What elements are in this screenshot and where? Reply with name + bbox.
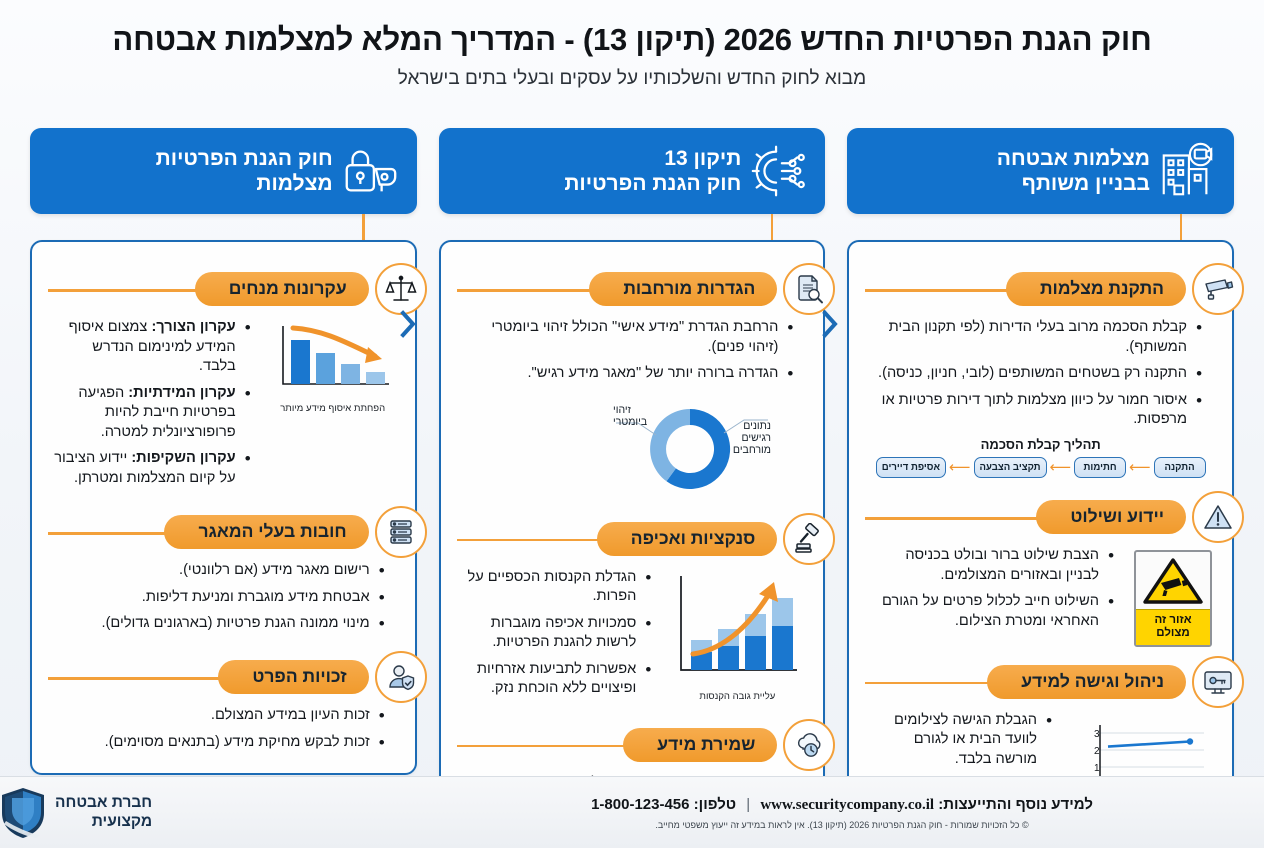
list-item: סמכויות אכיפה מוגברות לרשות להגנת הפרטיו… [463,614,652,653]
section-title: עקרונות מנחים [195,272,369,306]
list-item: עקרון הצורך: צמצום איסוף המידע למינימום … [54,318,251,377]
svg-text:זיהוי: זיהוי [613,404,632,416]
list-item: הגדלת הקנסות הכספיים על הפרות. [463,568,652,607]
bar-chart-decreasing [271,322,395,396]
section-body: עקרון הצורך: צמצום איסוף המידע למינימום … [48,318,399,495]
svg-text:1: 1 [1094,763,1100,774]
bullet-list: הרחבת הגדרת "מידע אישי" הכולל זיהוי ביומ… [457,318,808,384]
flow-step: חתימות [1074,457,1126,478]
section-header: שמירת מידע [457,724,808,766]
list-item: זכות העיון במידע המצולם. [54,706,385,726]
footer-website[interactable]: www.securitycompany.co.il [760,797,934,813]
svg-text:2: 2 [1094,746,1100,757]
section-title: סנקציות ואכיפה [597,522,778,556]
list-item: איסור חמור על כיוון מצלמות לתוך דירות פר… [871,391,1202,430]
footer-contact: למידע נוסף והתייעצות: www.securitycompan… [420,796,1264,814]
section-title: התקנת מצלמות [1006,272,1186,306]
section-camera-installation: התקנת מצלמות קבלת הסכמה מרוב בעלי הדירות… [865,268,1216,478]
list-item: הגבלת הגישה לצילומים לוועד הבית או לגורם… [871,711,1052,770]
section-title: חובות בעלי המאגר [164,515,368,549]
list-item: עקרון המידתיות: הפגיעה בפרטיות חייבת להי… [54,384,251,443]
phone-label: טלפון: [694,796,736,813]
sign-plate: אזור זה מצולם [1134,550,1212,647]
svg-text:3: 3 [1094,729,1100,740]
columns-container: חוק הגנת הפרטיות מצלמות עקרונות מנחים [30,128,1234,776]
list-item: עקרון השקיפות: יידוע הציבור על קיום המצל… [54,449,251,488]
section-title: הגדרות מורחבות [589,272,777,306]
bullet-list-wrapper: הגדלת הקנסות הכספיים על הפרות. סמכויות א… [457,568,666,706]
gavel-icon [783,513,835,565]
footer-company-name: חברת אבטחה מקצועית [55,794,152,831]
flow-arrow-icon: ⟵ [1128,460,1152,475]
section-title: זכויות הפרט [218,660,368,694]
connector-chevron-left [398,309,418,339]
bullet-list: רישום מאגר מידע (אם רלוונטי). אבטחת מידע… [48,561,399,634]
footer-brand: חברת אבטחה מקצועית [0,787,250,839]
list-item: זכות לבקש מחיקת מידע (בתנאים מסוימים). [54,733,385,753]
section-header: זכויות הפרט [48,656,399,698]
bullet-list-wrapper: עקרון הצורך: צמצום איסוף המידע למינימום … [48,318,265,495]
list-item: אבטחת מידע מוגברת ומניעת דליפות. [54,588,385,608]
section-body: הגדלת הקנסות הכספיים על הפרות. סמכויות א… [457,568,808,706]
server-icon [375,506,427,558]
list-item: אפשרות לתביעות אזרחיות ופיצויים ללא הוכח… [463,660,652,699]
section-notice-signage: יידוע ושילוט הצבת שילוט ברו [865,496,1216,647]
list-item: הרחבת הגדרת "מידע אישי" הכולל זיהוי ביומ… [463,318,794,357]
flow-step: התקנה [1154,457,1206,478]
consent-process-flow: אסיפת דיירים ⟵ תקציב הצבעה ⟵ חתימות ⟵ הת… [865,457,1216,478]
bullet-list: הגדלת הקנסות הכספיים על הפרות. סמכויות א… [457,568,666,699]
bullet-lead: עקרון הצורך: [151,319,235,335]
header-line-1: מצלמות אבטחה [997,147,1150,170]
section-header: ניהול וגישה למידע [865,661,1216,703]
section-header: יידוע ושילוט [865,496,1216,538]
column-header-amendment-13: תיקון 13 חוק הגנת הפרטיות [439,128,826,214]
chart-caption: הפחתת איסוף מידע מיותר [271,403,395,414]
list-item: הצבת שילוט ברור ובולט בכניסה לבניין ובאז… [871,546,1114,585]
header-line-1: חוק הגנת הפרטיות [156,147,333,170]
chart-fines-growth: עליית גובה הקנסות [669,568,807,702]
card-amendment-13: הגדרות מורחבות [439,240,826,843]
flow-step: תקציב הצבעה [974,457,1047,478]
section-header: התקנת מצלמות [865,268,1216,310]
cctv-warning-sign: אזור זה מצולם [1132,546,1216,647]
company-line-1: חברת אבטחה [55,794,152,811]
header-line-2: חוק הגנת הפרטיות [564,172,741,195]
list-item: רישום מאגר מידע (אם רלוונטי). [54,561,385,581]
column-header-text: מצלמות אבטחה בבניין משותף [861,146,1156,196]
svg-text:רגישים: רגישים [742,432,772,444]
footer-center: למידע נוסף והתייעצות: www.securitycompan… [250,796,1264,830]
cctv-camera-icon [1192,263,1244,315]
flow-arrow-icon: ⟵ [948,460,972,475]
column-header-shared-building: מצלמות אבטחה בבניין משותף [847,128,1234,214]
card-privacy-law: עקרונות מנחים עקרון הצורך: [30,240,417,775]
section-sanctions-enforcement: סנקציות ואכיפה [457,518,808,706]
section-expanded-definitions: הגדרות מורחבות [457,268,808,506]
list-item: מינוי ממונה הגנת פרטיות (בארגונים גדולים… [54,614,385,634]
section-header: הגדרות מורחבות [457,268,808,310]
donut-chart: נתונים רגישים מורחבים זיהוי ביומטרי [572,393,807,501]
column-header-text: תיקון 13 חוק הגנת הפרטיות [453,146,748,196]
bullet-lead: עקרון השקיפות: [131,450,235,466]
section-title: יידוע ושילוט [1036,500,1186,534]
header-line-2: מצלמות [256,172,332,195]
bullet-list-wrapper: הרחבת הגדרת "מידע אישי" הכולל זיהוי ביומ… [457,318,808,391]
building-camera-icon [1156,140,1218,202]
stacked-bar-chart-increasing [671,572,803,684]
column-shared-building: מצלמות אבטחה בבניין משותף התקנת מצלמות [847,128,1234,776]
title-area: חוק הגנת הפרטיות החדש 2026 (תיקון 13) - … [0,0,1264,90]
column-privacy-law: חוק הגנת הפרטיות מצלמות עקרונות מנחים [30,128,417,776]
section-title: ניהול וגישה למידע [987,665,1186,699]
page-subtitle: מבוא לחוק החדש והשלכותיו על עסקים ובעלי … [40,68,1224,90]
footer-phone[interactable]: 1-800-123-456 [591,796,689,813]
column-amendment-13: תיקון 13 חוק הגנת הפרטיות הגדרות מורחבות [439,128,826,776]
list-item: קבלת הסכמה מרוב בעלי הדירות (לפי תקנון ה… [871,318,1202,357]
section-body: הרחבת הגדרת "מידע אישי" הכולל זיהוי ביומ… [457,318,808,391]
cloud-clock-icon [783,719,835,771]
chart-caption: עליית גובה הקנסות [671,691,803,702]
chart-data-minimization: הפחתת איסוף מידע מיותר [269,318,399,414]
svg-text:נתונים: נתונים [744,420,772,432]
section-individual-rights: זכויות הפרט זכות העיון במידע המצולם. [48,656,399,752]
svg-text:ביומטרי: ביומטרי [613,416,647,428]
section-header: עקרונות מנחים [48,268,399,310]
flow-title: תהליך קבלת הסכמה [865,437,1216,452]
flow-step: אסיפת דיירים [876,457,946,478]
list-item: השילוט חייב לכלול פרטים על הגורם האחראי … [871,592,1114,631]
connector-chevron-right [820,309,840,339]
bullet-list: עקרון הצורך: צמצום איסוף המידע למינימום … [48,318,265,488]
lock-camera-icon [339,140,401,202]
chart-definitions-donut: נתונים רגישים מורחבים זיהוי ביומטרי [457,393,808,506]
gear-circuit-icon [747,140,809,202]
list-item: התקנה רק בשטחים המשותפים (לובי, חניון, כ… [871,364,1202,384]
footer-divider: | [740,796,756,813]
warning-triangle-icon [1192,491,1244,543]
header-line-2: בבניין משותף [1022,172,1150,195]
section-body: הצבת שילוט ברור ובולט בכניסה לבניין ובאז… [865,546,1216,647]
card-shared-building: התקנת מצלמות קבלת הסכמה מרוב בעלי הדירות… [847,240,1234,848]
section-header: סנקציות ואכיפה [457,518,808,560]
sign-text-line-1: אזור זה [1154,614,1191,626]
section-header: חובות בעלי המאגר [48,511,399,553]
bullet-list: זכות העיון במידע המצולם. זכות לבקש מחיקת… [48,706,399,752]
sign-text-line-2: מצולם [1156,627,1189,639]
flow-arrow-icon: ⟵ [1049,460,1073,475]
svg-text:מורחבים: מורחבים [733,444,771,456]
bullet-list-wrapper: הצבת שילוט ברור ובולט בכניסה לבניין ובאז… [865,546,1128,638]
user-shield-icon [375,651,427,703]
footer: חברת אבטחה מקצועית למידע נוסף והתייעצות:… [0,776,1264,848]
camera-warning-triangle-icon [1142,557,1204,605]
contact-label: למידע נוסף והתייעצות: [938,796,1093,813]
infographic-page: חוק הגנת הפרטיות החדש 2026 (תיקון 13) - … [0,0,1264,848]
header-line-1: תיקון 13 [664,147,741,170]
section-database-owner-duties: חובות בעלי המאגר רישום מא [48,511,399,634]
bullet-lead: עקרון המידתיות: [128,385,235,401]
list-item: הגדרה ברורה יותר של "מאגר מידע רגיש". [463,364,794,384]
section-title: שמירת מידע [623,728,777,762]
bullet-list: הצבת שילוט ברור ובולט בכניסה לבניין ובאז… [865,546,1128,631]
company-line-2: מקצועית [92,813,152,830]
column-header-text: חוק הגנת הפרטיות מצלמות [44,146,339,196]
shield-logo-icon [0,787,46,839]
document-search-icon [783,263,835,315]
section-guiding-principles: עקרונות מנחים עקרון הצורך: [48,268,399,495]
bullet-list: קבלת הסכמה מרוב בעלי הדירות (לפי תקנון ה… [865,318,1216,430]
footer-legal-text: © כל הזכויות שמורות - חוק הגנת הפרטיות 2… [420,820,1264,830]
column-header-privacy-law: חוק הגנת הפרטיות מצלמות [30,128,417,214]
monitor-key-icon [1192,656,1244,708]
scales-icon [375,263,427,315]
sign-text: אזור זה מצולם [1136,609,1210,645]
page-title: חוק הגנת הפרטיות החדש 2026 (תיקון 13) - … [40,22,1224,59]
